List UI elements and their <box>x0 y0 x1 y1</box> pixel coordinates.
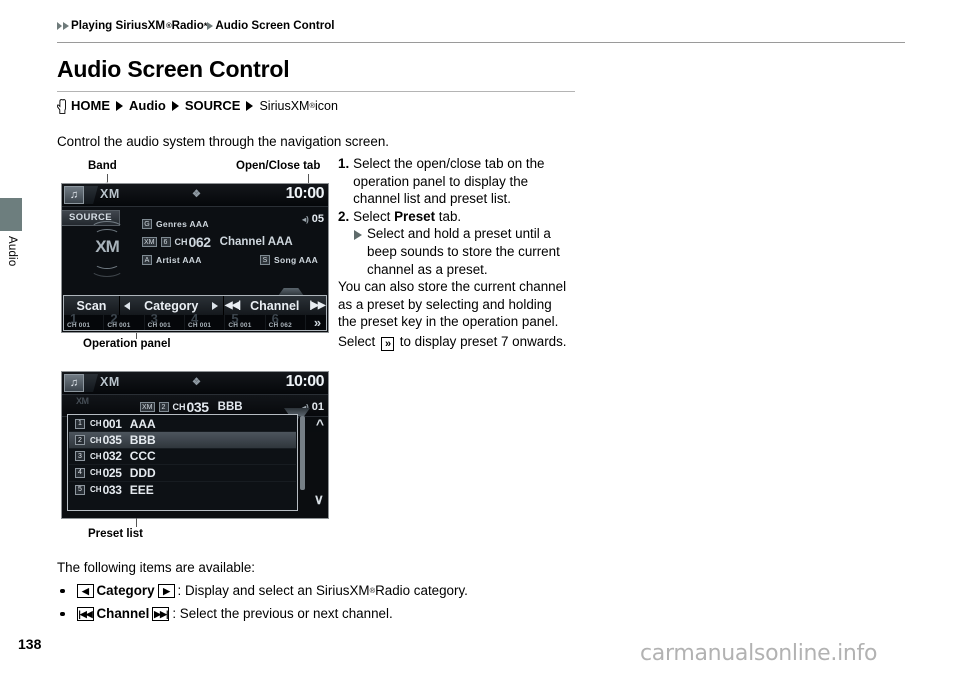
available-item-channel: |◀◀ Channel ▶▶| : Select the previous or… <box>57 604 468 624</box>
watermark: carmanualsonline.info <box>640 641 877 666</box>
available-item-category: ◀ Category ▶ : Display and select an Sir… <box>57 581 468 601</box>
skip-next-icon[interactable]: ▶▶| <box>152 607 169 621</box>
list-item[interactable]: 4 CH 025 DDD <box>69 465 296 481</box>
list-item-ch-number: 032 <box>103 449 122 463</box>
instruction-paragraph-2: Select » to display preset 7 onwards. <box>338 333 573 351</box>
song-group: S Song AAA <box>260 255 318 265</box>
sidebar-section-marker <box>0 198 22 231</box>
navigation-screen-playback: ♫ XM ❖ 10:00 SOURCE XM G Genres AAA XM 6… <box>61 183 329 333</box>
list-item-ch-number: 035 <box>103 433 122 447</box>
preset-channel: CH 062 <box>269 322 292 329</box>
preset-key[interactable]: 5 CH 001 <box>225 315 265 330</box>
preset-channel: CH 001 <box>188 322 211 329</box>
list-item-ch-number: 025 <box>103 466 122 480</box>
nav-path-arrow-icon <box>246 101 253 111</box>
preset-row: 1 CH 001 2 CH 001 3 CH 001 4 CH 001 5 CH… <box>64 315 326 330</box>
double-chevron-right-icon[interactable]: » <box>381 337 394 351</box>
chevron-up-icon[interactable]: ^ <box>316 416 324 432</box>
list-item-name: EEE <box>130 483 154 497</box>
list-item-index: 4 <box>75 468 85 478</box>
list-item[interactable]: 2 CH 035 BBB <box>69 432 296 448</box>
preset-badge-icon: 6 <box>161 237 171 247</box>
skip-next-icon[interactable]: |▶▶ <box>309 300 324 311</box>
channel-name: Channel AAA <box>220 236 293 248</box>
clock: 10:00 <box>286 185 324 203</box>
step-number: 1. <box>338 155 349 208</box>
clock: 10:00 <box>286 373 324 391</box>
callout-open-close-tab: Open/Close tab <box>236 160 320 172</box>
channel-row: XM 6 CH 062 Channel AAA <box>142 234 322 250</box>
genre-row: G Genres AAA <box>142 219 322 229</box>
operation-panel: Scan Category ◀◀| Channel |▶▶ 1 CH 001 2… <box>63 295 327 331</box>
preset-key[interactable]: 2 CH 001 <box>104 315 144 330</box>
volume-icon: ◂) <box>302 215 309 224</box>
genre-badge-icon: G <box>142 219 152 229</box>
page-title: Audio Screen Control <box>57 56 289 83</box>
hand-pointer-icon <box>57 99 66 114</box>
preset-key[interactable]: 1 CH 001 <box>64 315 104 330</box>
list-scrollbar[interactable] <box>300 416 305 490</box>
breadcrumb-item-2[interactable]: Audio Screen Control <box>215 19 334 32</box>
arrow-left-icon[interactable]: ◀ <box>77 584 94 598</box>
nav-path-arrow-icon <box>172 101 179 111</box>
xm-badge-icon: XM <box>140 402 155 412</box>
list-item-name: DDD <box>130 466 156 480</box>
step2-post: tab. <box>435 209 461 224</box>
channel-prefix: CH <box>173 402 186 412</box>
navigation-screen-preset-list: ♫ XM ❖ 10:00 XM XM 2 CH 035 BBB ◂) 01 Ch… <box>61 371 329 519</box>
breadcrumb-arrow-icon <box>57 22 62 30</box>
chevron-down-icon[interactable]: ∨ <box>314 491 324 508</box>
category-control[interactable]: Category <box>120 296 224 315</box>
list-item-name: BBB <box>130 433 156 447</box>
para2-pre: Select <box>338 334 379 349</box>
preset-key[interactable]: 6 CH 062 <box>266 315 306 330</box>
channel-number: 035 <box>187 399 209 415</box>
para2-post: to display preset 7 onwards. <box>396 334 566 349</box>
channel-prefix: CH <box>175 237 188 247</box>
nav-path-arrow-icon <box>116 101 123 111</box>
instructions-column: 1. Select the open/close tab on the oper… <box>338 155 573 351</box>
xm-badge-icon: XM <box>142 237 157 247</box>
arrow-left-icon[interactable] <box>124 302 130 310</box>
preset-list[interactable]: 1 CH 001 AAA 2 CH 035 BBB 3 CH 032 CCC 4… <box>67 414 298 511</box>
nav-path-last[interactable]: SiriusXM <box>259 99 309 113</box>
music-note-icon: ♫ <box>64 186 84 204</box>
song-badge-icon: S <box>260 255 270 265</box>
skip-previous-icon[interactable]: ◀◀| <box>225 300 240 311</box>
channel-number: 062 <box>189 234 211 250</box>
nav-path-last-tail: icon <box>315 99 338 113</box>
song-text: Song AAA <box>274 255 318 265</box>
list-item[interactable]: 5 CH 033 EEE <box>69 482 296 498</box>
preset-badge-icon: 2 <box>159 402 169 412</box>
page-number: 138 <box>18 636 41 652</box>
step-text: Select Preset tab. <box>353 208 573 226</box>
list-item-ch-prefix: CH <box>90 419 102 428</box>
preset-key[interactable]: 3 CH 001 <box>145 315 185 330</box>
list-item-index: 1 <box>75 419 85 429</box>
callout-band: Band <box>88 160 117 172</box>
screen-status-bar: ♫ XM ❖ 10:00 <box>62 184 328 207</box>
volume-value: 05 <box>312 213 324 225</box>
nav-path-audio[interactable]: Audio <box>129 98 166 113</box>
siriusxm-logo-icon: XM <box>78 221 136 281</box>
now-playing-info: G Genres AAA XM 6 CH 062 Channel AAA A A… <box>142 219 322 270</box>
step2-pre: Select <box>353 209 394 224</box>
volume-value: 01 <box>312 401 324 413</box>
substep-arrow-icon <box>354 230 362 240</box>
step-text: Select the open/close tab on the operati… <box>353 155 573 208</box>
callout-leader-line <box>136 518 137 527</box>
title-divider <box>57 91 575 92</box>
preset-key[interactable]: 4 CH 001 <box>185 315 225 330</box>
preset-channel: CH 001 <box>148 322 171 329</box>
preset-channel: CH 001 <box>228 322 251 329</box>
skip-previous-icon[interactable]: |◀◀ <box>77 607 94 621</box>
list-item-ch-prefix: CH <box>90 452 102 461</box>
nav-path-home[interactable]: HOME <box>71 98 110 113</box>
arrow-right-icon[interactable]: ▶ <box>158 584 175 598</box>
instruction-step-2: 2. Select Preset tab. <box>338 208 573 226</box>
breadcrumb-item-1-tail: Radio <box>172 19 204 32</box>
list-item-ch-prefix: CH <box>90 485 102 494</box>
instruction-substep: Select and hold a preset until a beep so… <box>354 225 573 278</box>
list-item-name: AAA <box>130 417 156 431</box>
status-tab-shape <box>84 186 98 204</box>
navigation-path: HOME Audio SOURCE SiriusXM® icon <box>57 98 338 113</box>
band-label: XM <box>100 187 120 201</box>
breadcrumb: Playing SiriusXM® Radio* Audio Screen Co… <box>57 19 336 32</box>
status-tab-shape <box>84 374 98 392</box>
breadcrumb-arrow-icon <box>207 22 213 30</box>
category-desc-post: Radio category. <box>375 581 468 601</box>
artist-text: Artist AAA <box>156 255 202 265</box>
callout-operation-panel: Operation panel <box>83 338 171 350</box>
available-items-section: The following items are available: ◀ Cat… <box>57 558 468 624</box>
category-label: Category <box>97 581 155 601</box>
category-desc: : Display and select an SiriusXM <box>178 581 370 601</box>
substep-text: Select and hold a preset until a beep so… <box>367 225 573 278</box>
list-item-ch-number: 001 <box>103 417 122 431</box>
list-item-index: 2 <box>75 435 85 445</box>
step2-bold[interactable]: Preset <box>394 209 435 224</box>
artist-song-row: A Artist AAA S Song AAA <box>142 255 322 265</box>
preset-channel: CH 001 <box>67 322 90 329</box>
sidebar-section-label: Audio <box>6 236 18 266</box>
music-note-icon: ♫ <box>64 374 84 392</box>
bluetooth-icon: ❖ <box>192 377 201 388</box>
nav-path-source[interactable]: SOURCE <box>185 98 241 113</box>
bullet-icon <box>60 589 65 594</box>
list-item[interactable]: 1 CH 001 AAA <box>69 416 296 432</box>
volume-indicator: ◂) 05 <box>302 213 324 225</box>
screen-status-bar: ♫ XM ❖ 10:00 <box>62 372 328 395</box>
channel-desc: : Select the previous or next channel. <box>172 604 392 624</box>
instruction-paragraph-1: You can also store the current channel a… <box>338 278 573 331</box>
band-label: XM <box>100 375 120 389</box>
list-item-ch-number: 033 <box>103 483 122 497</box>
list-item-ch-prefix: CH <box>90 436 102 445</box>
artist-badge-icon: A <box>142 255 152 265</box>
bullet-icon <box>60 612 65 617</box>
list-item-ch-prefix: CH <box>90 468 102 477</box>
channel-name: BBB <box>218 401 243 413</box>
step-number: 2. <box>338 208 349 226</box>
available-items-lead: The following items are available: <box>57 558 468 578</box>
bluetooth-icon: ❖ <box>192 189 201 200</box>
double-chevron-right-icon[interactable]: » <box>306 315 326 330</box>
list-item-index: 3 <box>75 451 85 461</box>
header-divider <box>57 42 905 43</box>
list-item-index: 5 <box>75 485 85 495</box>
genre-text: Genres AAA <box>156 219 209 229</box>
list-item[interactable]: 3 CH 032 CCC <box>69 449 296 465</box>
preset-channel: CH 001 <box>107 322 130 329</box>
channel-label: Channel <box>97 604 150 624</box>
list-item-name: CCC <box>130 449 156 463</box>
arrow-right-icon[interactable] <box>212 302 218 310</box>
breadcrumb-arrow-icon <box>63 22 69 30</box>
callout-preset-list: Preset list <box>88 528 143 540</box>
screen-playback-body: SOURCE XM G Genres AAA XM 6 CH 062 Chann… <box>62 207 328 295</box>
intro-text: Control the audio system through the nav… <box>57 134 389 149</box>
siriusxm-logo-icon: XM <box>76 396 89 406</box>
instruction-step-1: 1. Select the open/close tab on the oper… <box>338 155 573 208</box>
breadcrumb-item-1[interactable]: Playing SiriusXM <box>71 19 165 32</box>
now-playing-info: XM 2 CH 035 BBB <box>140 399 243 415</box>
